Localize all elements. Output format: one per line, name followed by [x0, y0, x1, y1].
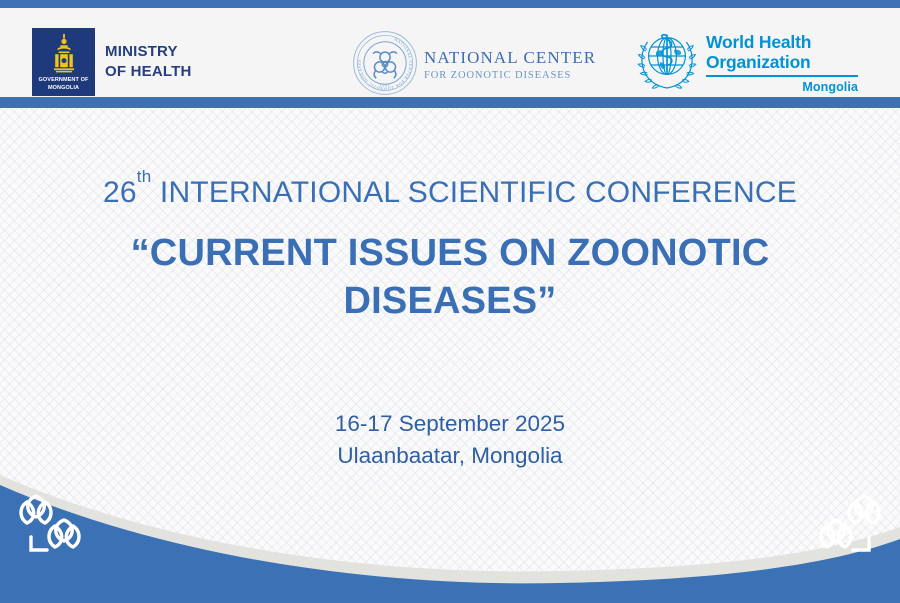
logo-header-strip: GOVERNMENT OF MONGOLIA MINISTRY OF HEALT… — [0, 8, 900, 97]
edition-ordinal-suffix: th — [137, 167, 152, 186]
header-separator-bar — [0, 97, 900, 108]
top-accent-bar — [0, 0, 900, 8]
ministry-label-line1: MINISTRY — [105, 42, 192, 62]
national-center-zoonotic-diseases-logo: NATIONAL CENTER FOR ZOONOTIC DISEASES — [352, 30, 596, 96]
bottom-wave-divider — [0, 463, 900, 603]
conference-title: “CURRENT ISSUES ON ZOONOTIC DISEASES” — [90, 230, 810, 326]
nczd-wordmark: NATIONAL CENTER FOR ZOONOTIC DISEASES — [424, 45, 596, 81]
ministry-of-health-name: MINISTRY OF HEALTH — [105, 42, 192, 83]
who-name-line1: World Health — [706, 33, 858, 53]
conference-edition-line: 26th INTERNATIONAL SCIENTIFIC CONFERENCE — [0, 176, 900, 210]
crest-government-label: GOVERNMENT OF — [32, 77, 95, 83]
mongolia-government-crest: GOVERNMENT OF MONGOLIA — [32, 28, 95, 96]
who-divider-rule — [706, 75, 858, 77]
edition-rest-text: INTERNATIONAL SCIENTIFIC CONFERENCE — [151, 176, 797, 209]
who-emblem-icon — [636, 29, 698, 91]
mongolian-ulzii-knot-ornament-left — [14, 488, 96, 565]
who-country-label: Mongolia — [706, 80, 858, 94]
mongolian-ulzii-knot-ornament-right — [804, 488, 886, 565]
nczd-name-line1: NATIONAL CENTER — [424, 49, 596, 68]
crest-country-label: MONGOLIA — [32, 85, 95, 91]
who-wordmark: World Health Organization Mongolia — [706, 29, 858, 94]
ministry-of-health-logo: GOVERNMENT OF MONGOLIA MINISTRY OF HEALT… — [32, 28, 192, 96]
slide-body: 26th INTERNATIONAL SCIENTIFIC CONFERENCE… — [0, 108, 900, 508]
conference-date: 16-17 September 2025 — [0, 408, 900, 440]
mongolia-soyombo-emblem-icon — [47, 28, 81, 80]
who-mongolia-logo: World Health Organization Mongolia — [636, 29, 858, 94]
ministry-label-line2: OF HEALTH — [105, 62, 192, 82]
conference-title-slide: GOVERNMENT OF MONGOLIA MINISTRY OF HEALT… — [0, 0, 900, 603]
who-name-line2: Organization — [706, 53, 858, 73]
biohazard-seal-icon: NATIONAL CENTER FOR ZOONOTIC DISEASES — [352, 30, 418, 96]
nczd-name-line2: FOR ZOONOTIC DISEASES — [424, 70, 596, 81]
svg-text:1931: 1931 — [380, 83, 391, 88]
edition-number: 26 — [103, 176, 137, 209]
